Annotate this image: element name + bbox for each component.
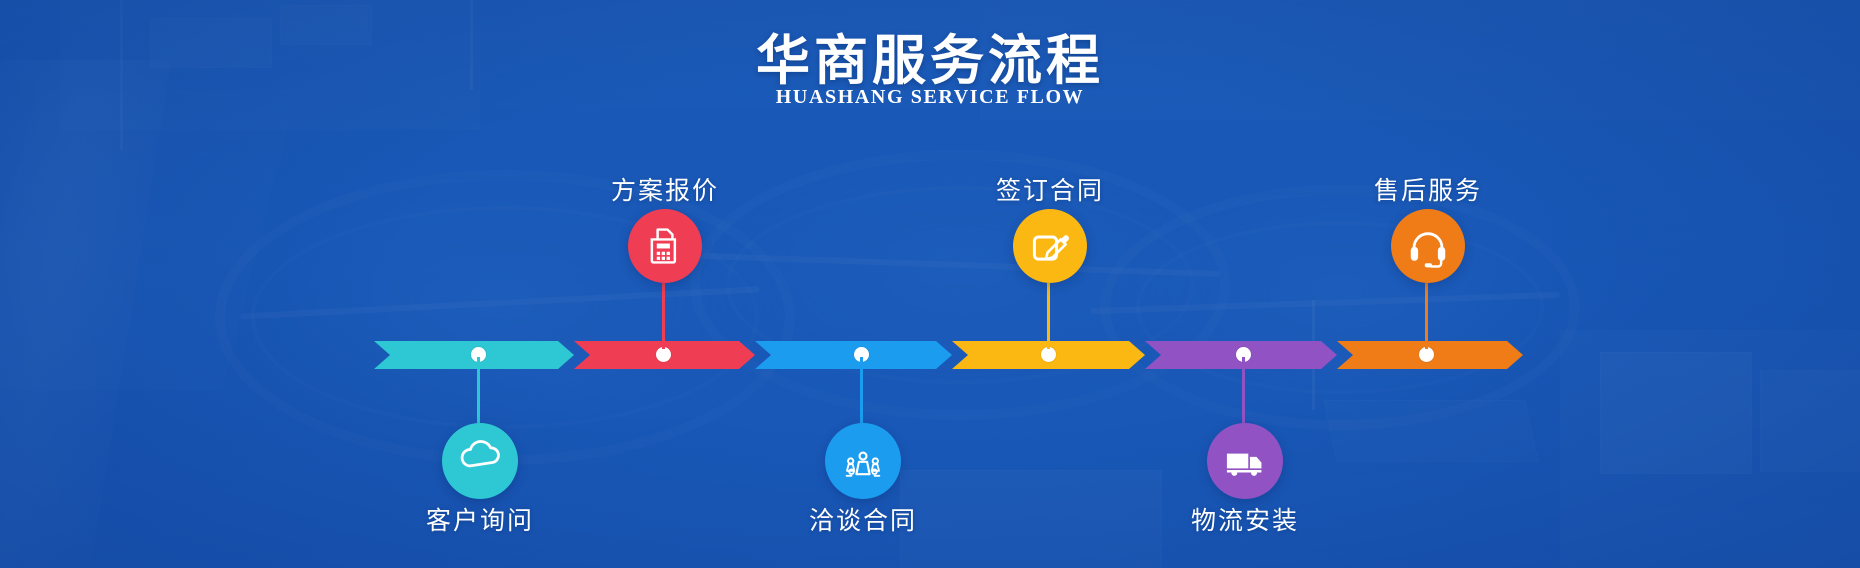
connector-stem-1 <box>477 357 480 423</box>
flow-step-label-6: 售后服务 <box>1278 171 1578 207</box>
calculator-icon <box>642 223 688 269</box>
connector-stem-2 <box>662 283 665 349</box>
meeting-icon <box>840 438 886 484</box>
flow-step-icon-circle-6[interactable] <box>1391 209 1465 283</box>
page-subtitle: HUASHANG SERVICE FLOW <box>0 86 1860 109</box>
flow-step-label-4: 签订合同 <box>900 171 1200 207</box>
flow-node-dot-6 <box>1419 347 1434 362</box>
cloud-icon <box>457 438 503 484</box>
flow-step-icon-circle-1[interactable] <box>442 423 518 499</box>
connector-stem-3 <box>860 357 863 423</box>
connector-stem-6 <box>1425 283 1428 349</box>
service-flow-banner: 华商服务流程 HUASHANG SERVICE FLOW 客户询问方案报价洽谈合… <box>0 0 1860 568</box>
page-title: 华商服务流程 <box>0 16 1860 95</box>
headset-icon <box>1405 223 1451 269</box>
flow-step-icon-circle-5[interactable] <box>1207 423 1283 499</box>
pen-edit-icon <box>1027 223 1073 269</box>
connector-stem-5 <box>1242 357 1245 423</box>
flow-step-icon-circle-3[interactable] <box>825 423 901 499</box>
flow-step-label-1: 客户询问 <box>330 501 630 537</box>
truck-icon <box>1222 438 1268 484</box>
flow-step-label-5: 物流安装 <box>1095 501 1395 537</box>
flow-step-icon-circle-4[interactable] <box>1013 209 1087 283</box>
flow-step-label-3: 洽谈合同 <box>713 501 1013 537</box>
flow-step-icon-circle-2[interactable] <box>628 209 702 283</box>
banner-content: 华商服务流程 HUASHANG SERVICE FLOW 客户询问方案报价洽谈合… <box>0 0 1860 568</box>
connector-stem-4 <box>1047 283 1050 349</box>
flow-step-label-2: 方案报价 <box>515 171 815 207</box>
flow-node-dot-4 <box>1041 347 1056 362</box>
flow-node-dot-2 <box>656 347 671 362</box>
